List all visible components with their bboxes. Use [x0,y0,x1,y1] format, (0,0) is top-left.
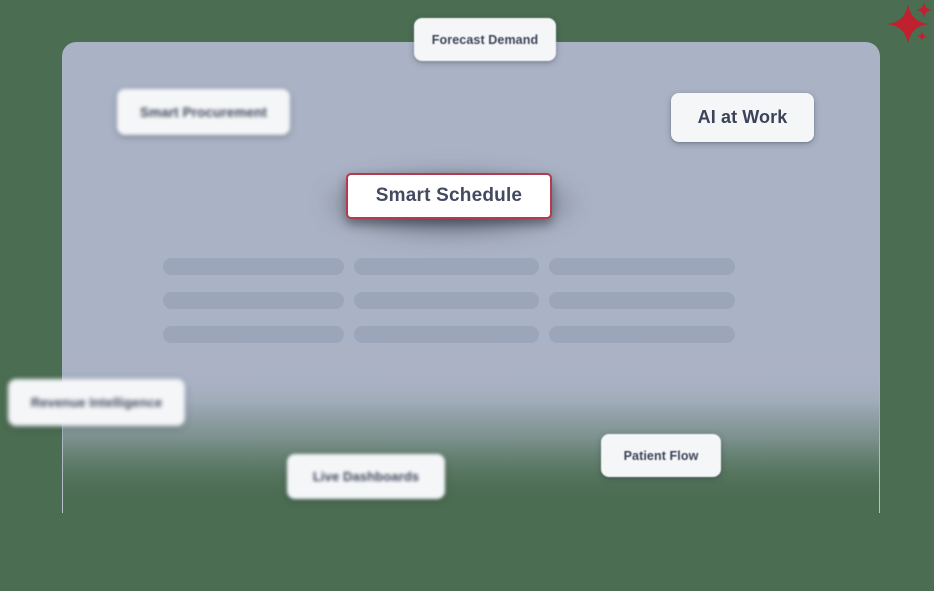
skeleton-bar [163,258,344,275]
smart-schedule-button[interactable]: Smart Schedule [346,173,552,219]
skeleton-bar [354,292,539,309]
skeleton-bar [549,326,735,343]
skeleton-content [163,258,735,343]
pill-patient-flow[interactable]: Patient Flow [601,434,721,477]
skeleton-bar [354,326,539,343]
skeleton-row [163,292,735,309]
smart-schedule-label: Smart Schedule [376,185,522,207]
skeleton-bar [163,292,344,309]
pill-forecast-demand[interactable]: Forecast Demand [414,18,556,61]
smart-schedule-hero: Smart Schedule [318,162,583,242]
skeleton-bar [354,258,539,275]
skeleton-bar [549,258,735,275]
skeleton-bar [549,292,735,309]
skeleton-row [163,258,735,275]
pill-revenue-intelligence[interactable]: Revenue Intelligence [8,379,185,426]
pill-smart-procurement[interactable]: Smart Procurement [117,89,290,135]
screenshot-stage: Forecast Demand Smart Procurement AI at … [0,0,934,591]
sparkle-icon [884,0,934,50]
panel-right-rail [879,42,880,513]
skeleton-row [163,326,735,343]
pill-ai-at-work[interactable]: AI at Work [671,93,814,142]
pill-live-dashboards[interactable]: Live Dashboards [287,454,445,499]
panel-left-rail [62,42,63,513]
skeleton-bar [163,326,344,343]
